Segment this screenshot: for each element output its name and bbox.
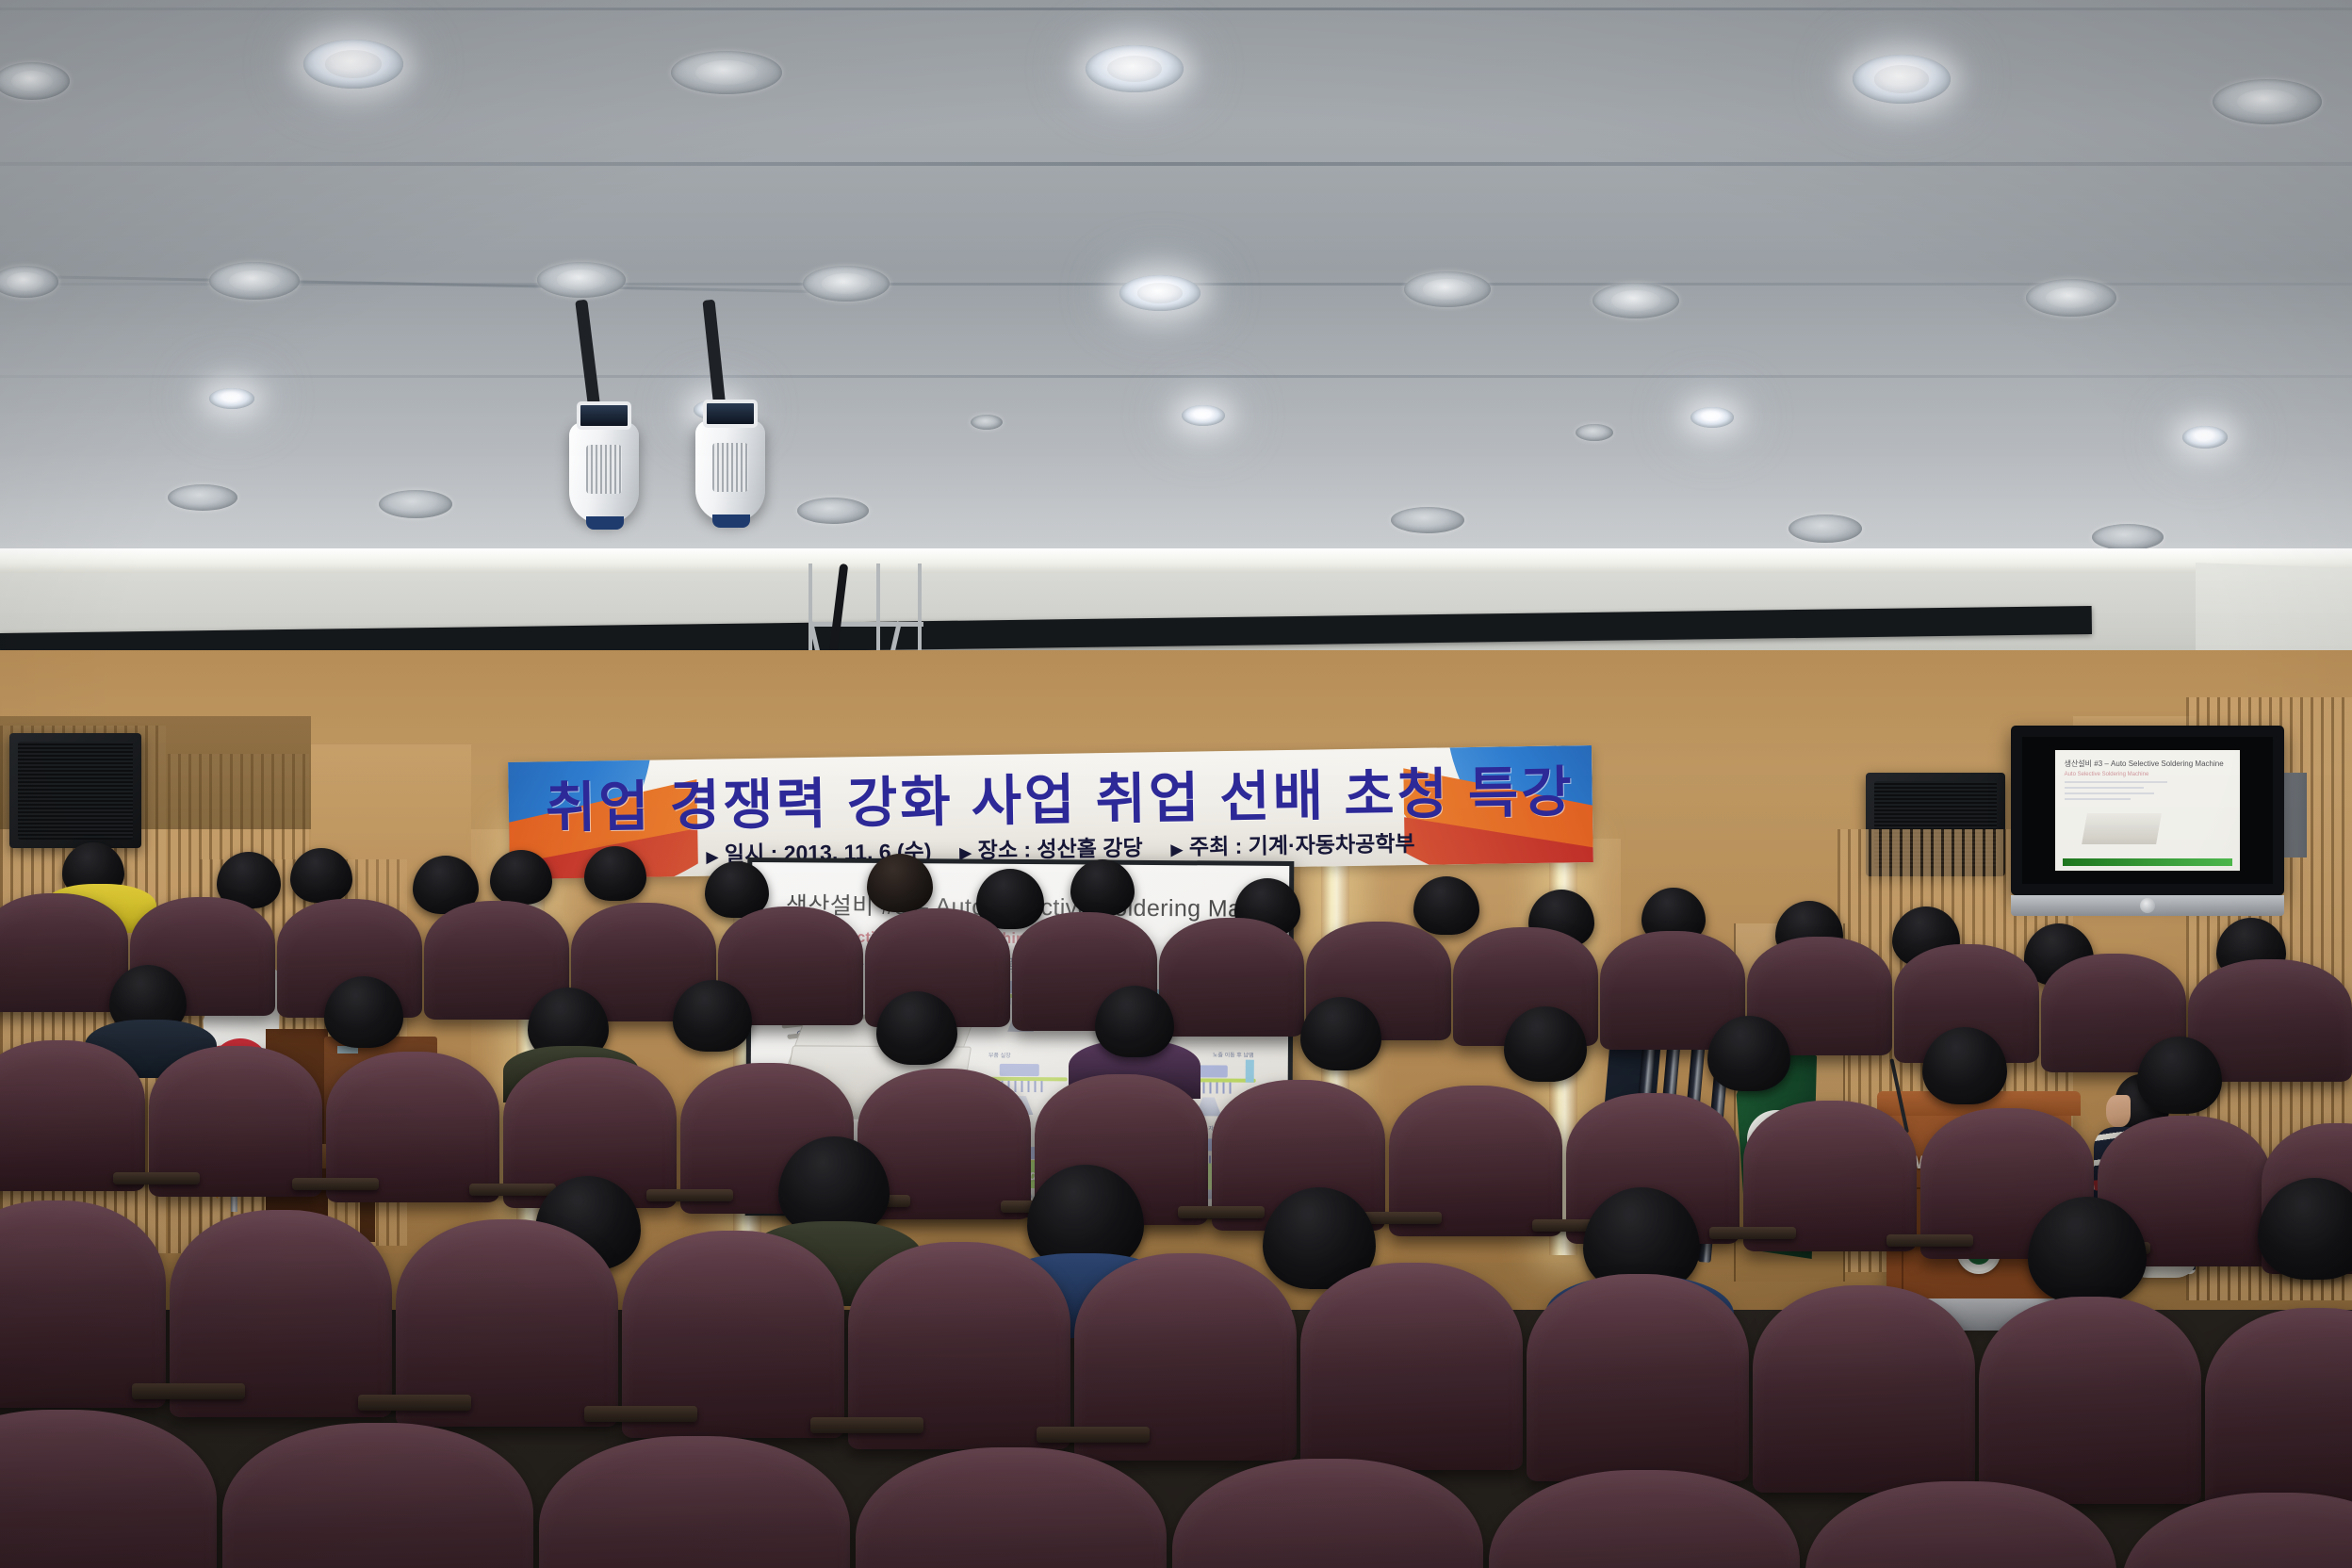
tv-slide-content: 생산설비 #3 – Auto Selective Soldering Machi… (2055, 750, 2241, 871)
ceiling-downlight (1391, 507, 1464, 533)
ceiling-downlight (2092, 524, 2164, 550)
ceiling-downlight (1690, 407, 1734, 428)
ceiling-downlight (1086, 45, 1184, 92)
auditorium-seat[interactable] (0, 1410, 217, 1568)
ceiling-downlight (0, 266, 58, 298)
ceiling-downlight (1788, 514, 1862, 543)
wall-tv-assembly: 생산설비 #3 – Auto Selective Soldering Machi… (2011, 726, 2284, 895)
seat-armrest (358, 1395, 471, 1411)
stage-speaker (9, 733, 141, 848)
ceiling-downlight (797, 498, 869, 524)
seat-armrest (1886, 1234, 1973, 1247)
auditorium-seat[interactable] (1172, 1459, 1483, 1568)
auditorium-seat[interactable] (0, 1040, 145, 1191)
tv-slide-subtitle: Auto Selective Soldering Machine (2065, 772, 2231, 777)
seat-armrest (113, 1172, 200, 1184)
diagram-label: 부품 실장 (988, 1051, 1011, 1059)
tv-brand-logo (2140, 898, 2155, 913)
ceiling-downlight (537, 262, 626, 298)
ceiling-downlight (1592, 283, 1679, 318)
ceiling-downlight (1853, 55, 1951, 104)
tv-slide-title: 생산설비 #3 – Auto Selective Soldering Machi… (2065, 759, 2231, 769)
ceiling-downlight (0, 62, 70, 100)
auditorium-seat[interactable] (0, 1200, 166, 1408)
ceiling-downlight (2182, 426, 2228, 449)
audience-head (1413, 876, 1479, 935)
ceiling-downlight (2026, 279, 2116, 317)
auditorium-seat[interactable] (1159, 918, 1304, 1037)
auditorium-seat[interactable] (2205, 1308, 2352, 1515)
ceiling-spotlight-fixture (688, 300, 773, 526)
audience-seating (0, 1078, 2352, 1568)
auditorium-seat[interactable] (539, 1436, 850, 1568)
seat-armrest (292, 1178, 379, 1190)
auditorium-seat[interactable] (0, 893, 128, 1012)
ceiling (0, 0, 2352, 584)
auditorium-seat[interactable] (1753, 1285, 1975, 1493)
ceiling-downlight (803, 266, 890, 302)
auditorium-seat[interactable] (1300, 1263, 1523, 1470)
ceiling-downlight (379, 490, 452, 518)
seat-armrest (1037, 1427, 1150, 1443)
ceiling-downlight (1404, 271, 1491, 307)
audience-head (1070, 859, 1135, 916)
seat-armrest (132, 1383, 245, 1399)
seat-armrest (469, 1184, 556, 1196)
audience-head (290, 848, 352, 903)
tv-slide-footer (2063, 858, 2233, 866)
banner-host: 주최 : 기계·자동차공학부 (1170, 825, 1415, 861)
banner-title: 취업 경쟁력 강화 사업 취업 선배 초청 특강 (668, 753, 1451, 837)
ceiling-downlight (1119, 275, 1200, 311)
seat-armrest (584, 1406, 697, 1422)
audience-head (584, 846, 646, 901)
ceiling-downlight (1576, 424, 1613, 441)
ceiling-downlight (209, 262, 300, 300)
wall-tv: 생산설비 #3 – Auto Selective Soldering Machi… (2011, 726, 2284, 895)
audience-head (490, 850, 552, 905)
auditorium-seat[interactable] (1527, 1274, 1749, 1481)
seat-armrest (1178, 1206, 1265, 1218)
auditorium-seat[interactable] (222, 1423, 533, 1568)
ceiling-downlight (971, 415, 1003, 430)
ceiling-spotlight-fixture (562, 300, 646, 526)
auditorium-seat[interactable] (1979, 1297, 2201, 1504)
auditorium-seat[interactable] (2122, 1493, 2352, 1568)
ceiling-downlight (209, 388, 254, 409)
ceiling-downlight (303, 40, 403, 89)
auditorium-seat[interactable] (856, 1447, 1167, 1568)
audience-head (867, 854, 933, 912)
seat-armrest (646, 1189, 733, 1201)
seat-armrest (810, 1417, 923, 1433)
ceiling-downlight (168, 484, 237, 511)
ceiling-downlight (671, 51, 782, 94)
ceiling-downlight (2213, 79, 2322, 124)
ceiling-downlight (1182, 405, 1225, 426)
auditorium-photo: 취업 경쟁력 강화 사업 취업 선배 초청 특강 일시 : 2013. 11. … (0, 0, 2352, 1568)
seat-armrest (1709, 1227, 1796, 1239)
diagram-label: 노즐 이동 후 납땜 (1213, 1050, 1254, 1058)
